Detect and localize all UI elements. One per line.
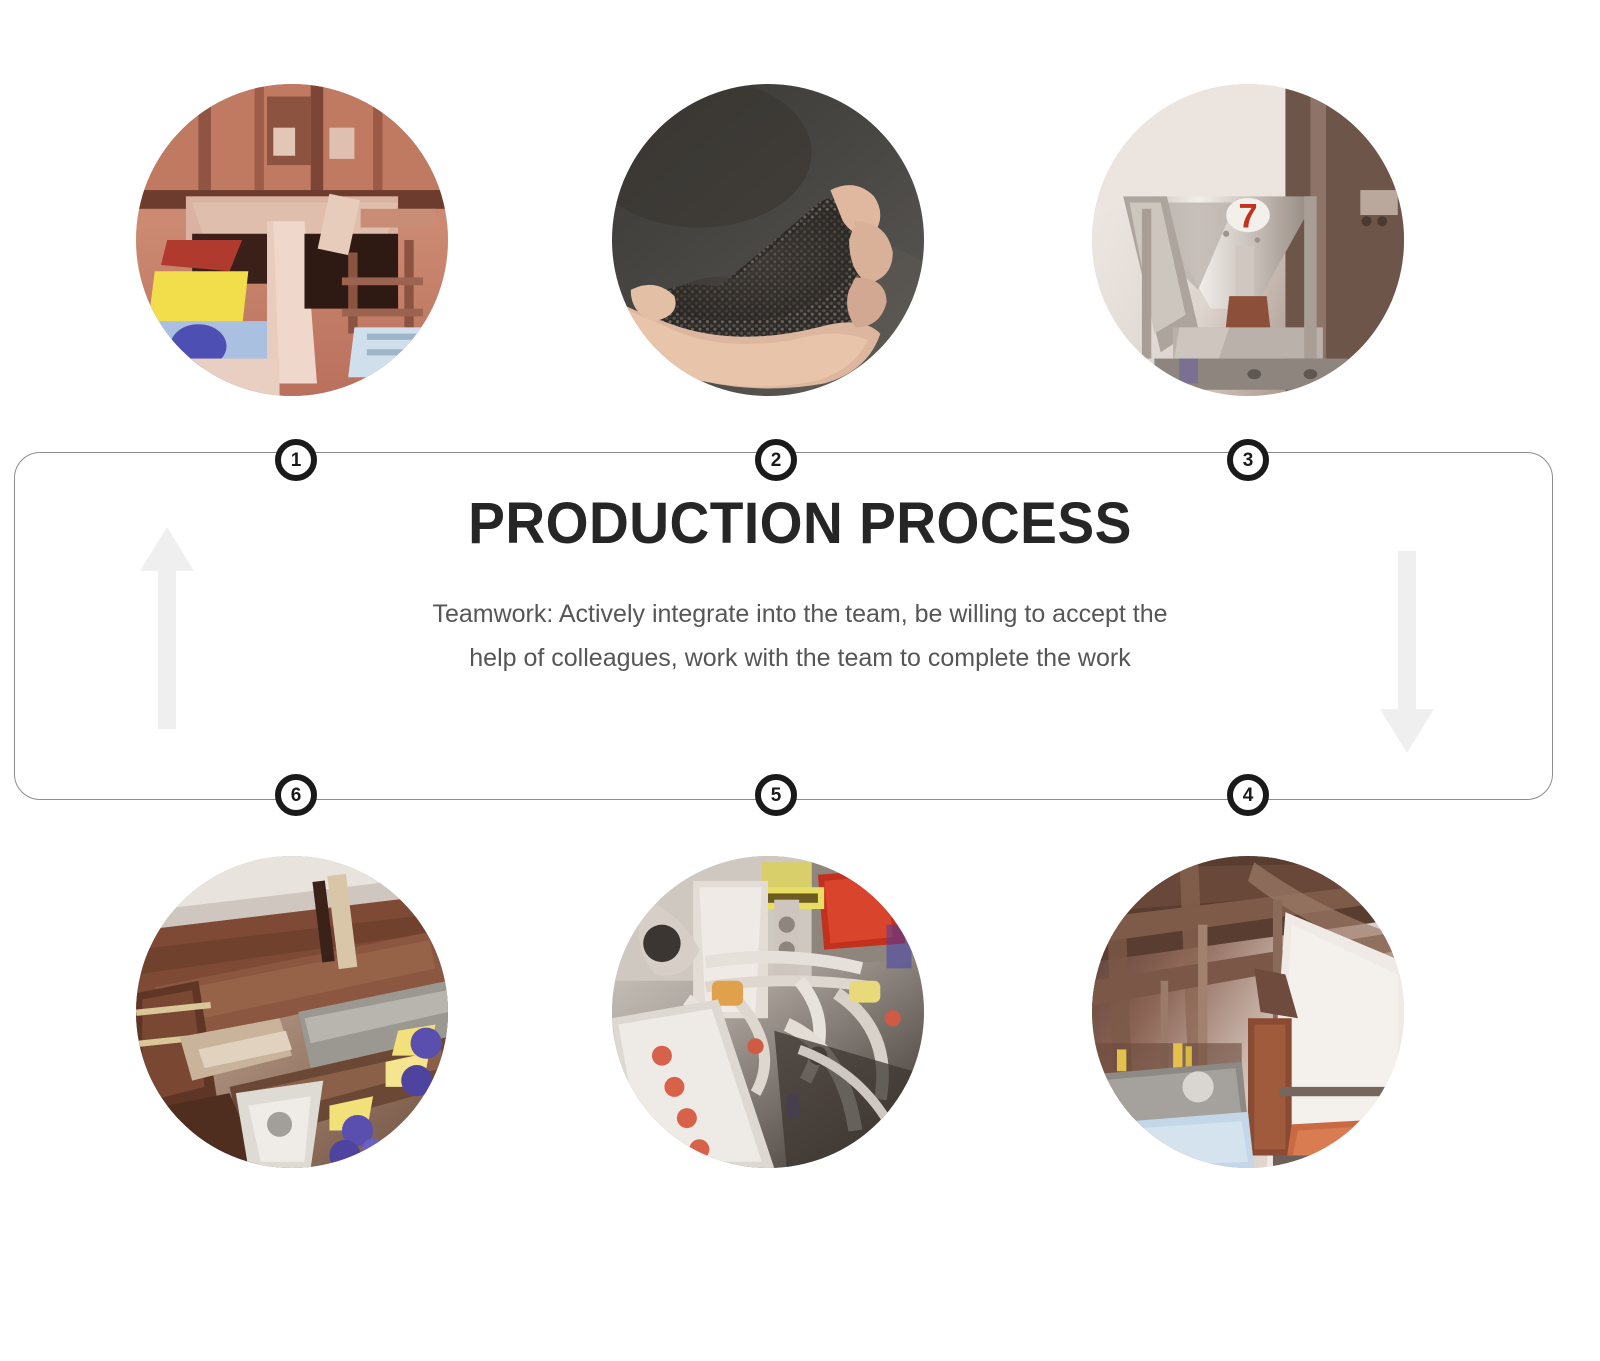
step-photo-2[interactable] xyxy=(612,84,924,396)
step-photo-1-image xyxy=(136,84,448,396)
right-down-arrow xyxy=(1372,547,1442,757)
page-subtitle: Teamwork: Actively integrate into the te… xyxy=(420,593,1180,681)
step-badge-6-label: 6 xyxy=(291,786,302,805)
step-badge-3-label: 3 xyxy=(1243,451,1254,470)
left-up-arrow-icon xyxy=(132,523,202,733)
step-photo-5-image xyxy=(612,856,924,1168)
step-badge-6[interactable]: 6 xyxy=(275,774,317,816)
step-badge-5[interactable]: 5 xyxy=(755,774,797,816)
production-process-infographic: 7 PRODUCTION PROCESS Teamwork: Actively … xyxy=(0,0,1600,1361)
step-badge-1[interactable]: 1 xyxy=(275,439,317,481)
svg-text:7: 7 xyxy=(1238,198,1257,236)
step-photo-4-image xyxy=(1092,856,1404,1168)
step-photo-6-image xyxy=(136,856,448,1168)
step-photo-3-image: 7 xyxy=(1092,84,1404,396)
right-down-arrow-icon xyxy=(1372,547,1442,757)
step-badge-5-label: 5 xyxy=(771,786,782,805)
step-photo-5[interactable] xyxy=(612,856,924,1168)
step-badge-2-label: 2 xyxy=(771,451,782,470)
step-photo-3[interactable]: 7 xyxy=(1092,84,1404,396)
step-badge-2[interactable]: 2 xyxy=(755,439,797,481)
step-badge-3[interactable]: 3 xyxy=(1227,439,1269,481)
process-text-block: PRODUCTION PROCESS Teamwork: Actively in… xyxy=(330,494,1270,680)
step-photo-1[interactable] xyxy=(136,84,448,396)
step-photo-2-image xyxy=(612,84,924,396)
left-up-arrow xyxy=(132,523,202,733)
step-photo-4[interactable] xyxy=(1092,856,1404,1168)
step-badge-4[interactable]: 4 xyxy=(1227,774,1269,816)
step-photo-6[interactable] xyxy=(136,856,448,1168)
page-title: PRODUCTION PROCESS xyxy=(354,494,1247,555)
step-badge-4-label: 4 xyxy=(1243,786,1254,805)
step-badge-1-label: 1 xyxy=(291,451,302,470)
